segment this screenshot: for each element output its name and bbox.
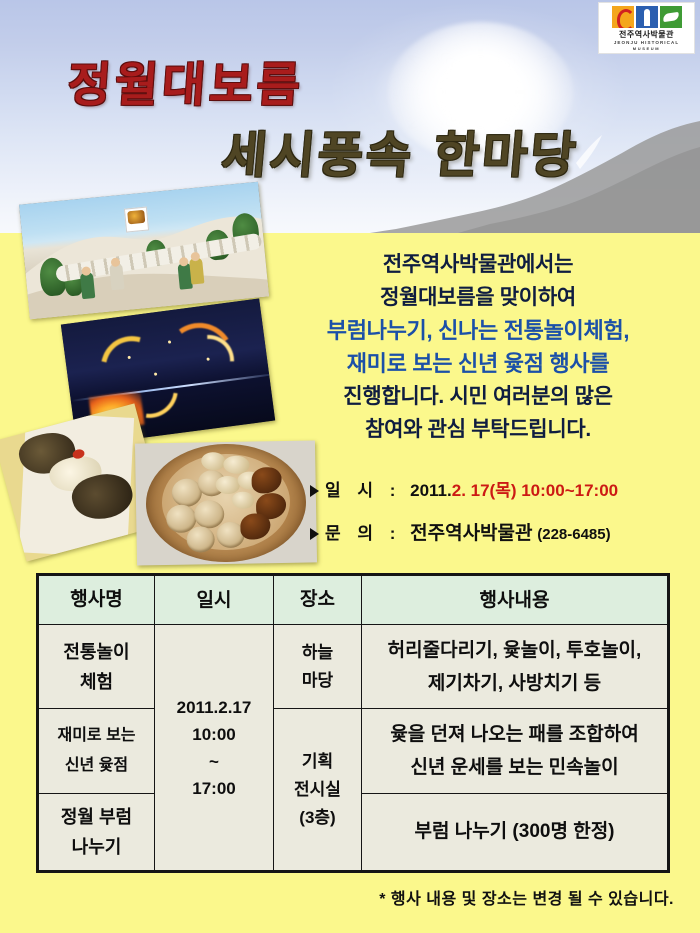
- cell-content-bureom: 부럼 나누기 (300명 한정): [362, 793, 668, 870]
- museum-logo: 전주역사박물관 JEONJU HISTORICAL MUSEUM: [598, 2, 695, 54]
- cell-name-yutjeom: 재미로 보는 신년 윷점: [39, 709, 155, 793]
- peanut: [232, 492, 254, 509]
- cell-text: 기획: [277, 748, 358, 776]
- intro-line-6: 참여와 관심 부탁드립니다.: [262, 413, 694, 446]
- contact-organization: 전주역사박물관: [410, 523, 532, 544]
- cell-text: 하늘: [277, 639, 358, 667]
- schedule-table: 행사명 일시 장소 행사내용 전통놀이 체험 2011.2.17 10:00 ~: [38, 575, 668, 871]
- cell-content-traditional-play: 허리줄다리기, 윷놀이, 투호놀이, 제기차기, 사방치기 등: [362, 625, 668, 709]
- cell-text: ~: [158, 748, 270, 775]
- schedule-table-wrapper: 행사명 일시 장소 행사내용 전통놀이 체험 2011.2.17 10:00 ~: [36, 573, 670, 873]
- cell-text: 신년 운세를 보는 민속놀이: [365, 751, 664, 784]
- column-header-name: 행사명: [39, 576, 155, 625]
- cell-text: 부럼 나누기 (300명 한정): [365, 815, 664, 848]
- cell-content-yutjeom: 윷을 던져 나오는 패를 조합하여 신년 운세를 보는 민속놀이: [362, 709, 668, 793]
- column-header-where: 장소: [274, 576, 362, 625]
- cell-name-bureom: 정월 부럼 나누기: [39, 793, 155, 870]
- cell-text: 허리줄다리기, 윷놀이, 투호놀이,: [365, 634, 664, 667]
- cell-text: (3층): [277, 804, 358, 832]
- cell-text: 10:00: [158, 721, 270, 748]
- poster-root: 전주역사박물관 JEONJU HISTORICAL MUSEUM 정월대보름 세…: [0, 0, 700, 933]
- cell-text: 윷을 던져 나오는 패를 조합하여: [365, 718, 664, 751]
- bureom-nuts-photo: [135, 440, 317, 565]
- cell-text: 전시실: [277, 776, 358, 804]
- intro-line-3: 부럼나누기, 신나는 전통놀이체험,: [262, 314, 694, 347]
- logo-name-en-line2: MUSEUM: [603, 46, 690, 52]
- logo-name-kr: 전주역사박물관: [603, 29, 690, 40]
- cell-text: 2011.2.17: [158, 694, 270, 721]
- footnote-text: * 행사 내용 및 장소는 변경 될 수 있습니다.: [379, 885, 674, 909]
- date-label: 일 시 :: [325, 481, 401, 500]
- intro-line-5: 진행합니다. 시민 여러분의 많은: [262, 380, 694, 413]
- cell-place-haneul-madang: 하늘 마당: [274, 625, 362, 709]
- snow-figure: [109, 263, 124, 290]
- contact-line: 문 의 : 전주역사박물관 (228-6485): [310, 518, 611, 545]
- cell-text: 재미로 보는: [42, 721, 151, 751]
- cell-text: 마당: [277, 667, 358, 695]
- column-header-when: 일시: [155, 576, 274, 625]
- logo-marks: [603, 6, 690, 28]
- cell-text: 나누기: [42, 832, 151, 862]
- cell-text: 제기차기, 사방치기 등: [365, 667, 664, 700]
- triangle-bullet-icon: [310, 485, 319, 497]
- intro-line-1: 전주역사박물관에서는: [262, 248, 694, 281]
- intro-line-4: 재미로 보는 신년 윷점 행사를: [262, 347, 694, 380]
- date-year: 2011.: [410, 481, 452, 500]
- moon-picture-frame: [124, 207, 149, 233]
- peanut: [216, 476, 240, 494]
- column-header-content: 행사내용: [362, 576, 668, 625]
- contact-phone: (228-6485): [537, 526, 610, 543]
- snow-village-photo: [19, 182, 269, 319]
- snow-figure: [189, 257, 204, 284]
- cell-text: 체험: [42, 667, 151, 697]
- contact-label: 문 의 :: [325, 524, 401, 543]
- fire-mark-icon: [612, 6, 634, 28]
- peanut: [201, 452, 225, 470]
- cell-name-traditional-play: 전통놀이 체험: [39, 625, 155, 709]
- cell-text: 신년 윷점: [42, 751, 151, 781]
- intro-paragraph: 전주역사박물관에서는 정월대보름을 맞이하여 부럼나누기, 신나는 전통놀이체험…: [262, 248, 694, 446]
- triangle-bullet-icon: [310, 528, 319, 540]
- leaf-mark-icon: [660, 6, 682, 28]
- cell-place-exhibition-hall: 기획 전시실 (3층): [274, 709, 362, 871]
- cell-datetime: 2011.2.17 10:00 ~ 17:00: [155, 625, 274, 871]
- poster-title-line2: 세시풍속 한마당: [219, 116, 582, 187]
- cell-text: 정월 부럼: [42, 802, 151, 832]
- poster-title-line1: 정월대보름: [66, 46, 307, 115]
- person-mark-icon: [636, 6, 658, 28]
- cell-text: 전통놀이: [42, 637, 151, 667]
- event-date-line: 일 시 : 2011.2. 17(목) 10:00~17:00: [310, 476, 618, 501]
- snow-figure: [80, 272, 95, 299]
- cell-text: 17:00: [158, 775, 270, 802]
- table-header-row: 행사명 일시 장소 행사내용: [39, 576, 668, 625]
- intro-line-2: 정월대보름을 맞이하여: [262, 281, 694, 314]
- date-value: 2. 17(목) 10:00~17:00: [452, 481, 618, 500]
